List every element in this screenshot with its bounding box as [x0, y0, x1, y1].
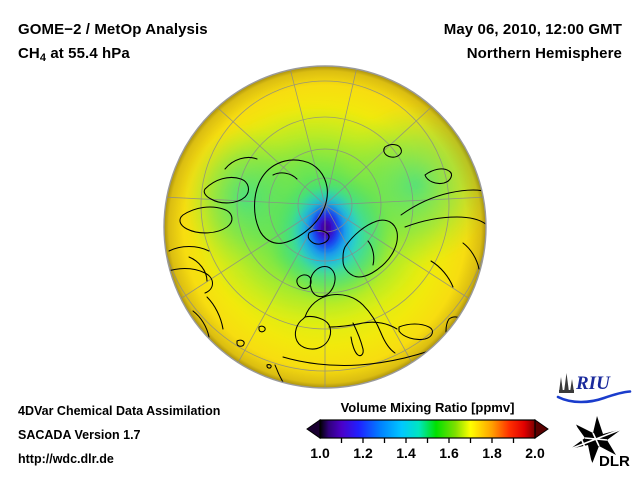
- colorbar-gradient: [320, 420, 535, 438]
- method-label: 4DVar Chemical Data Assimilation: [18, 404, 220, 418]
- colorbar-extend-low: [307, 420, 320, 438]
- region-label: Northern Hemisphere: [467, 45, 622, 62]
- globe-map: [163, 65, 487, 389]
- species-prefix: CH: [18, 45, 40, 62]
- orthographic-projection-svg: [163, 65, 487, 389]
- version-label: SACADA Version 1.7: [18, 428, 141, 442]
- colorbar-tick-labels: 1.01.21.41.61.82.0: [305, 445, 550, 467]
- riu-wordmark: RIU: [575, 373, 611, 394]
- species-level-label: CH4 at 55.4 hPa: [18, 45, 130, 64]
- species-suffix: at 55.4 hPa: [46, 45, 130, 62]
- dlr-wordmark: DLR: [599, 453, 630, 470]
- colorbar-tick-label: 2.0: [525, 445, 544, 461]
- dlr-logo-svg: DLR: [566, 414, 632, 470]
- timestamp-label: May 06, 2010, 12:00 GMT: [444, 21, 622, 38]
- colorbar-title: Volume Mixing Ratio [ppmv]: [305, 400, 550, 415]
- colorbar-tick-label: 1.2: [353, 445, 372, 461]
- riu-logo-svg: RIU: [556, 370, 632, 404]
- data-field-layer: [164, 66, 487, 388]
- riu-logo: RIU: [556, 370, 632, 404]
- riu-tower-icon: [559, 373, 574, 393]
- colorbar-tick-label: 1.4: [396, 445, 415, 461]
- page-title: GOME−2 / MetOp Analysis: [18, 21, 208, 38]
- sacada-analysis-figure: GOME−2 / MetOp Analysis CH4 at 55.4 hPa …: [0, 0, 640, 480]
- colorbar-tick-label: 1.8: [482, 445, 501, 461]
- colorbar: Volume Mixing Ratio [ppmv] 1: [305, 400, 550, 472]
- colorbar-extend-high: [535, 420, 548, 438]
- colorbar-ticks: [342, 438, 514, 443]
- dlr-logo: DLR: [566, 414, 632, 470]
- website-link[interactable]: http://wdc.dlr.de: [18, 452, 114, 466]
- colorbar-tick-label: 1.6: [439, 445, 458, 461]
- colorbar-tick-label: 1.0: [310, 445, 329, 461]
- colorbar-scale: [305, 418, 550, 448]
